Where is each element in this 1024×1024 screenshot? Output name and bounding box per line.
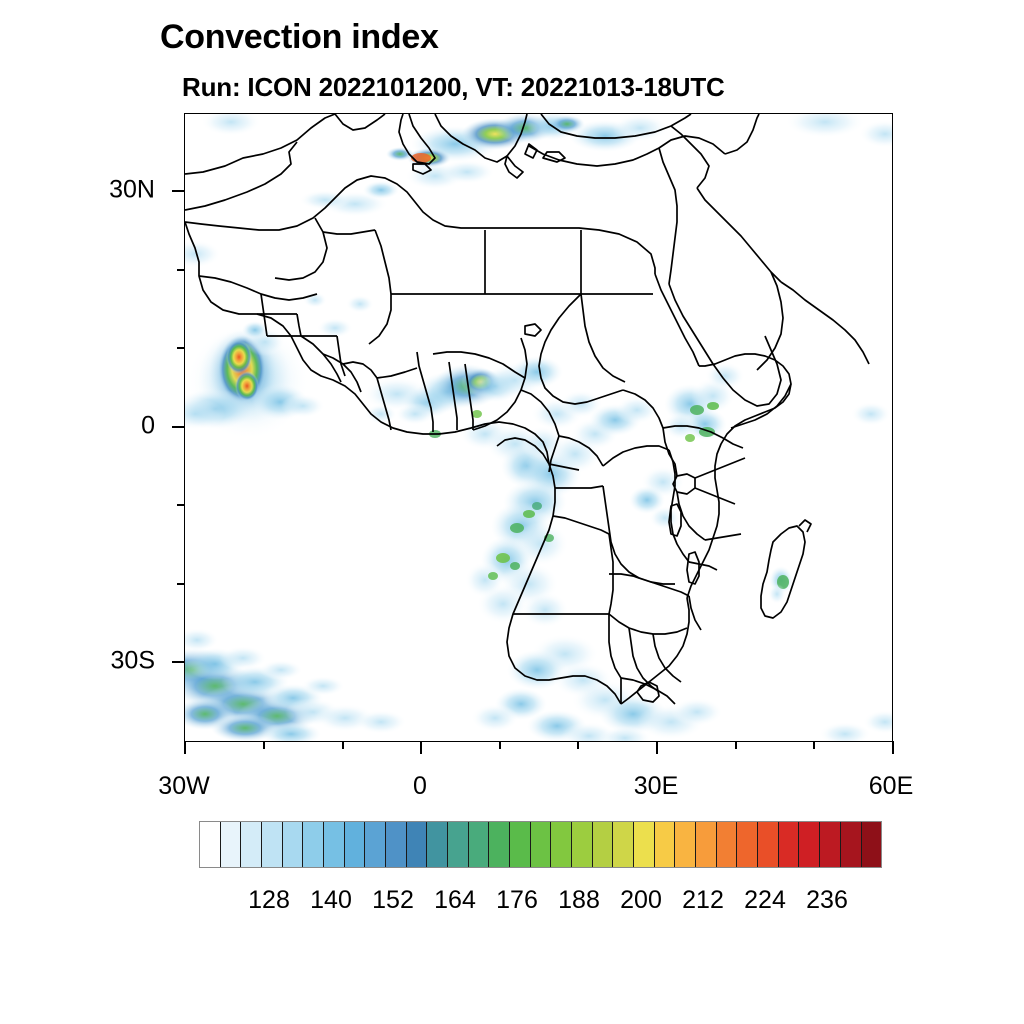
colorbar[interactable] (199, 821, 882, 868)
colorbar-segment (345, 822, 366, 867)
x-major-tick (892, 741, 894, 754)
colorbar-segment (862, 822, 882, 867)
colorbar-segment (427, 822, 448, 867)
colorbar-tick-label: 236 (806, 886, 848, 915)
colorbar-tick-label: 164 (434, 886, 476, 915)
colorbar-segment (696, 822, 717, 867)
y-major-tick (172, 661, 185, 663)
y-minor-tick (177, 504, 185, 506)
colorbar-segment (303, 822, 324, 867)
x-major-tick (656, 741, 658, 754)
convection-field-layer (185, 114, 892, 741)
x-major-tick (420, 741, 422, 754)
map-clip-region (185, 114, 892, 741)
x-axis-label-0: 0 (413, 772, 427, 801)
x-minor-tick (342, 741, 344, 749)
y-axis-label-0: 0 (95, 412, 155, 441)
colorbar-segment (572, 822, 593, 867)
colorbar-segment (593, 822, 614, 867)
colorbar-segment (779, 822, 800, 867)
y-minor-tick (177, 583, 185, 585)
colorbar-tick-label: 176 (496, 886, 538, 915)
colorbar-tick-label: 128 (248, 886, 290, 915)
colorbar-tick-label: 152 (372, 886, 414, 915)
colorbar-segment (365, 822, 386, 867)
colorbar-segment (407, 822, 428, 867)
colorbar-segment (799, 822, 820, 867)
colorbar-segment (200, 822, 221, 867)
colorbar-segment (510, 822, 531, 867)
colorbar-segment (675, 822, 696, 867)
x-minor-tick (813, 741, 815, 749)
colorbar-segment (841, 822, 862, 867)
colorbar-segment (655, 822, 676, 867)
y-major-tick (172, 426, 185, 428)
map-canvas (185, 114, 892, 741)
colorbar-tick-label: 212 (682, 886, 724, 915)
y-axis-label-30n: 30N (95, 176, 155, 205)
colorbar-segment (489, 822, 510, 867)
figure-canvas: Convection index Run: ICON 2022101200, V… (0, 0, 1024, 1024)
colorbar-segment (634, 822, 655, 867)
colorbar-segment (613, 822, 634, 867)
y-major-tick (172, 190, 185, 192)
colorbar-tick-label: 224 (744, 886, 786, 915)
y-minor-tick (177, 269, 185, 271)
colorbar-segment (717, 822, 738, 867)
x-major-tick (184, 741, 186, 754)
colorbar-segment (262, 822, 283, 867)
x-minor-tick (577, 741, 579, 749)
colorbar-segment (737, 822, 758, 867)
colorbar-segment (820, 822, 841, 867)
x-minor-tick (735, 741, 737, 749)
colorbar-segment (758, 822, 779, 867)
colorbar-tick-label: 200 (620, 886, 662, 915)
colorbar-segment (531, 822, 552, 867)
colorbar-tick-label: 140 (310, 886, 352, 915)
figure-subtitle: Run: ICON 2022101200, VT: 20221013-18UTC (182, 72, 725, 103)
map-plot-panel[interactable] (184, 113, 893, 742)
x-axis-label-30e: 30E (634, 772, 678, 801)
colorbar-segment (241, 822, 262, 867)
colorbar-tick-label: 188 (558, 886, 600, 915)
x-minor-tick (499, 741, 501, 749)
colorbar-segment (386, 822, 407, 867)
colorbar-segment (448, 822, 469, 867)
y-minor-tick (177, 347, 185, 349)
colorbar-segment (551, 822, 572, 867)
colorbar-segment (324, 822, 345, 867)
x-minor-tick (263, 741, 265, 749)
colorbar-segment (283, 822, 304, 867)
colorbar-segment (469, 822, 490, 867)
page-title: Convection index (160, 18, 439, 57)
x-axis-label-60e: 60E (869, 772, 913, 801)
colorbar-segment (221, 822, 242, 867)
x-axis-label-30w: 30W (158, 772, 209, 801)
y-axis-label-30s: 30S (95, 647, 155, 676)
